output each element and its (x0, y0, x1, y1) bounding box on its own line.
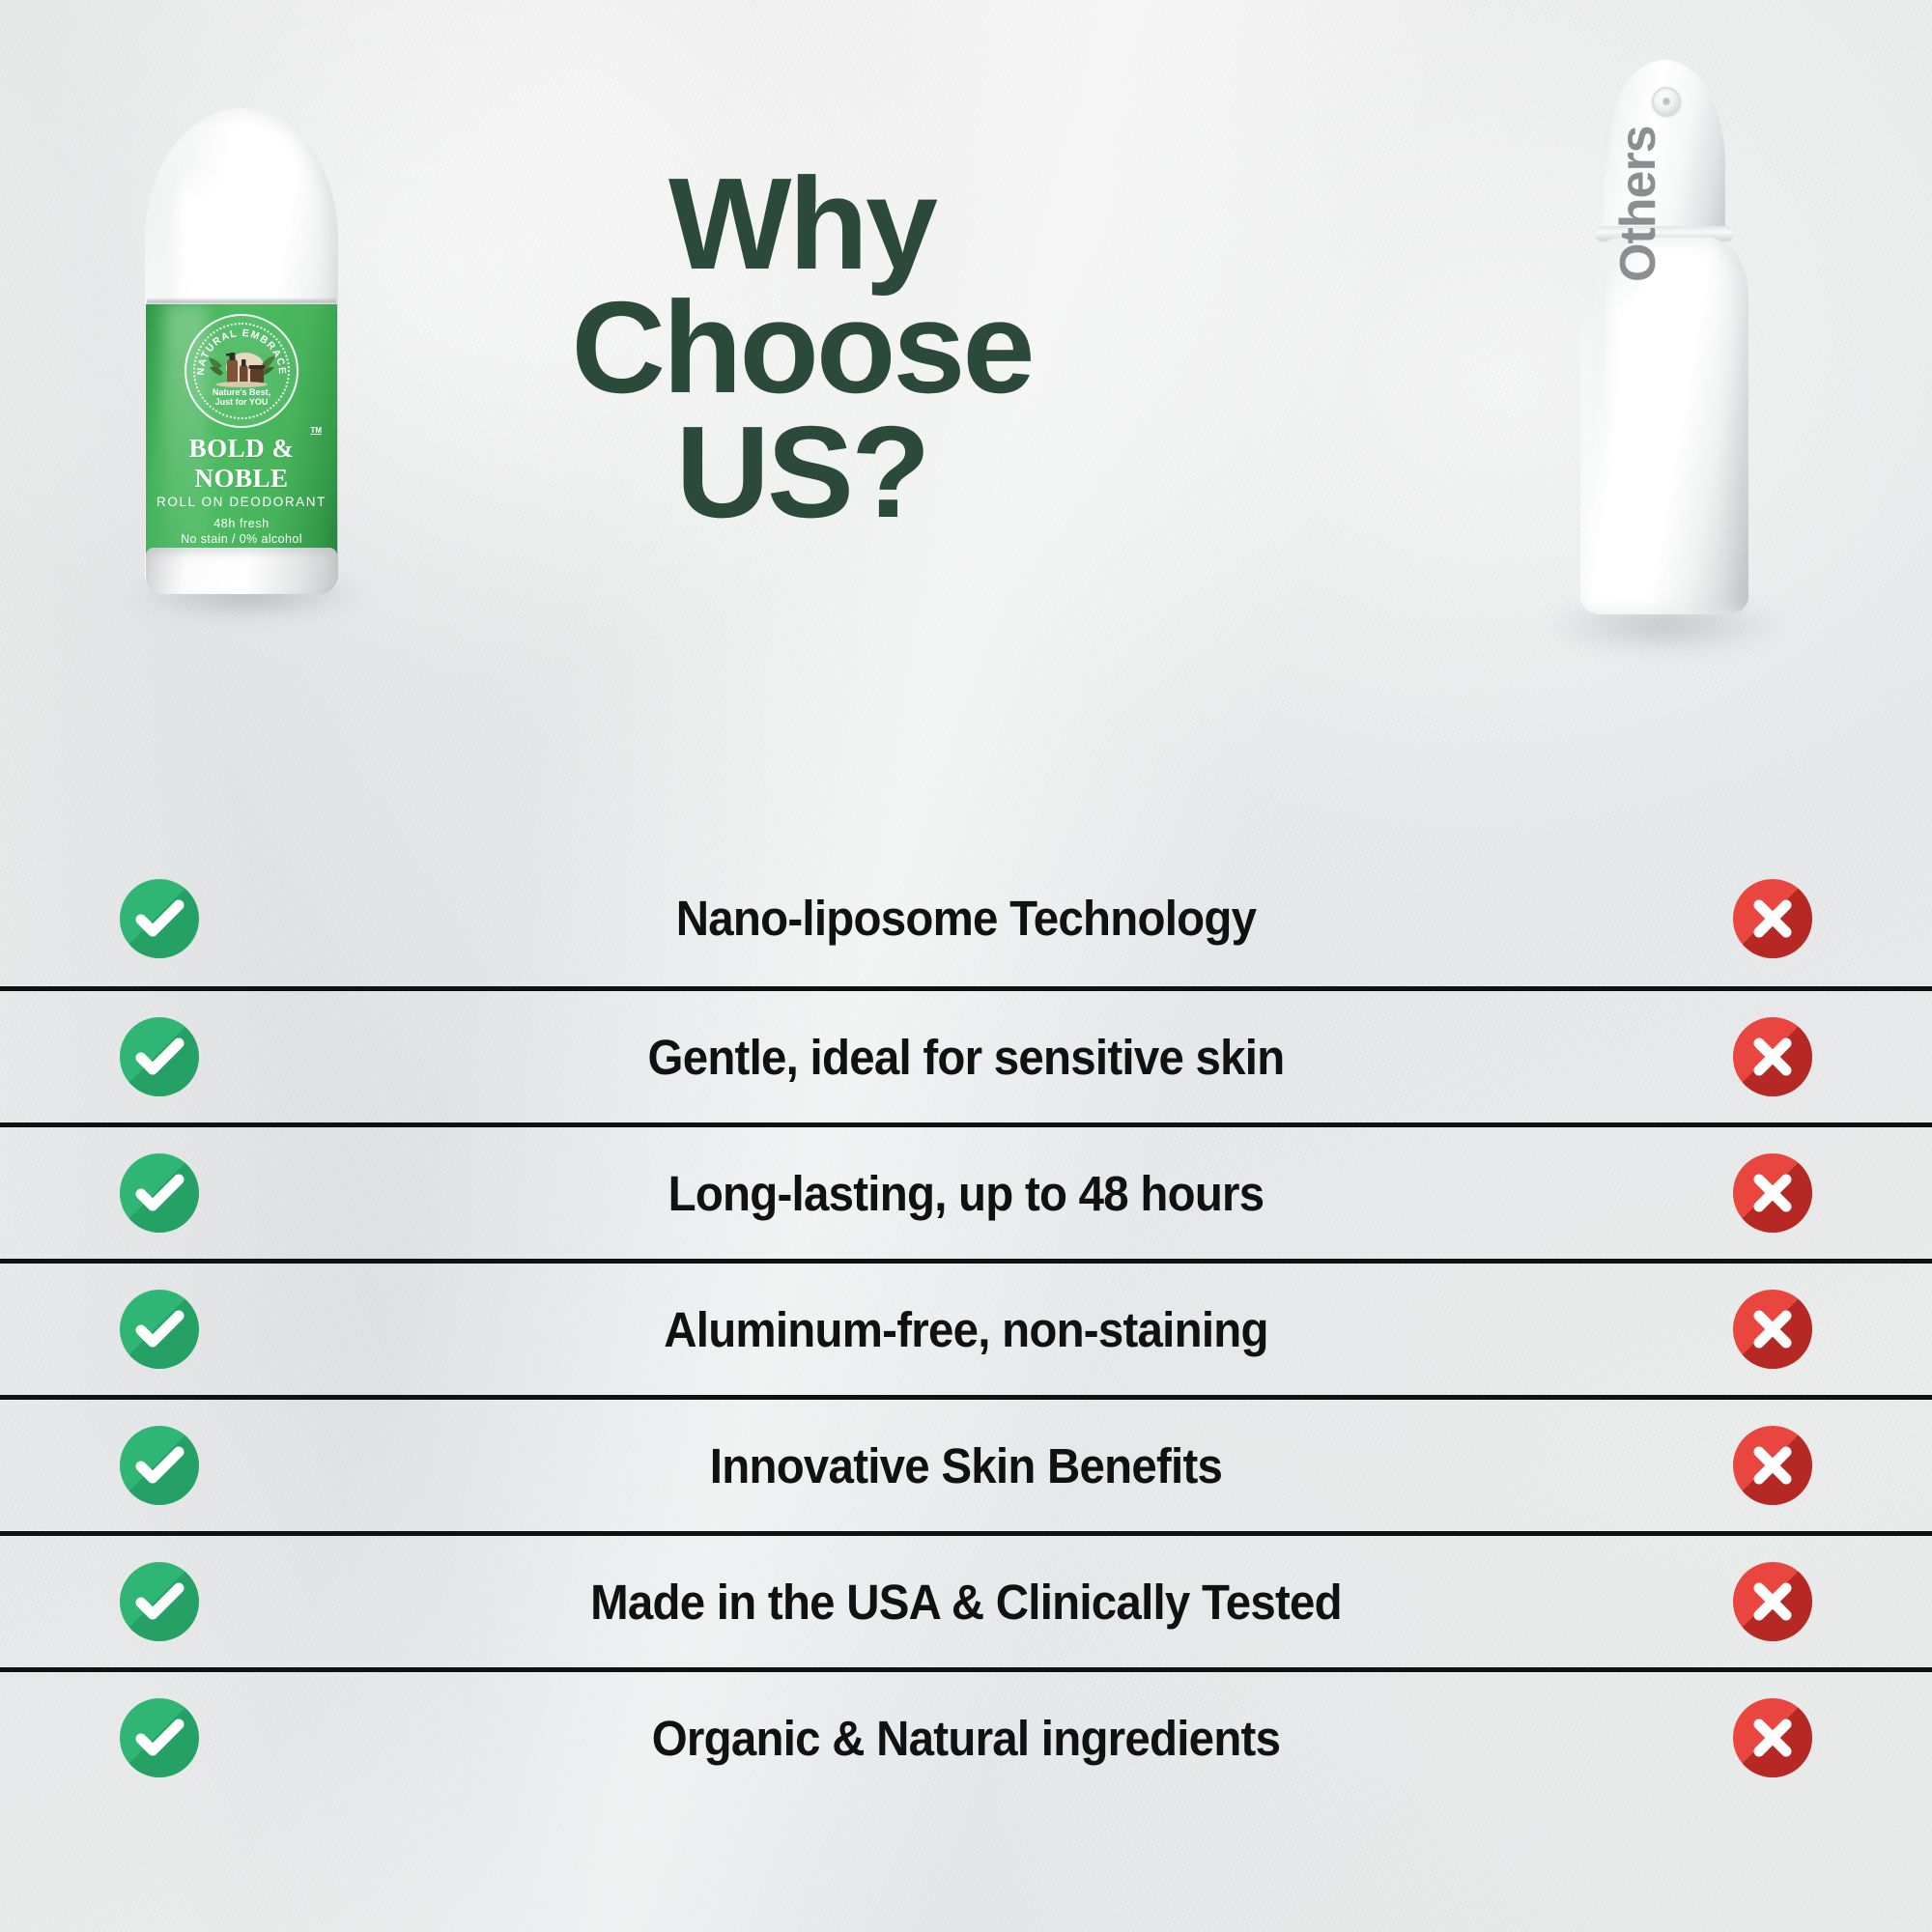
table-row: Innovative Skin Benefits (0, 1395, 1932, 1531)
theirs-cell (1613, 1153, 1932, 1233)
headline-line-1: Why (502, 162, 1101, 286)
theirs-cell (1613, 1290, 1932, 1369)
product-type: ROLL ON DEODORANT (146, 495, 337, 509)
label-claim-formula: No stain / 0% alcohol (146, 532, 337, 546)
cross-icon (1733, 879, 1812, 958)
headline-line-3: US? (502, 411, 1101, 534)
table-row: Nano-liposome Technology (0, 850, 1932, 986)
feature-label: Organic & Natural ingredients (364, 1710, 1568, 1767)
headline-line-2: Choose (502, 286, 1101, 410)
trademark-mark: TM (310, 426, 322, 435)
theirs-cell (1613, 1698, 1932, 1777)
brand-name: BOLD & NOBLE (146, 434, 337, 494)
brand-emblem: NATURAL EMBRACE (185, 314, 298, 428)
check-icon (120, 1153, 199, 1233)
product-label: NATURAL EMBRACE (146, 304, 337, 554)
emblem-tagline-line-2: Just for YOU (185, 397, 298, 407)
can-highlight (1611, 263, 1646, 553)
cross-icon (1733, 1698, 1812, 1777)
theirs-cell (1613, 879, 1932, 958)
ours-cell (0, 1698, 319, 1777)
can-body (1580, 238, 1748, 614)
check-icon (120, 1290, 199, 1369)
ours-cell (0, 1290, 319, 1369)
cross-icon (1733, 1017, 1812, 1096)
check-icon (120, 879, 199, 958)
ours-cell (0, 1153, 319, 1233)
bottle-base (146, 548, 337, 594)
feature-label: Made in the USA & Clinically Tested (364, 1574, 1568, 1631)
ours-cell (0, 1562, 319, 1641)
ours-cell (0, 1426, 319, 1505)
ours-cell (0, 879, 319, 958)
table-row: Made in the USA & Clinically Tested (0, 1531, 1932, 1667)
check-icon (120, 1698, 199, 1777)
cross-icon (1733, 1562, 1812, 1641)
feature-label: Long-lasting, up to 48 hours (364, 1165, 1568, 1222)
feature-label: Gentle, ideal for sensitive skin (364, 1029, 1568, 1086)
theirs-cell (1613, 1426, 1932, 1505)
cross-icon (1733, 1153, 1812, 1233)
check-icon (120, 1426, 199, 1505)
emblem-tagline: Nature's Best, Just for YOU (185, 387, 298, 407)
theirs-cell (1613, 1017, 1932, 1096)
theirs-cell (1613, 1562, 1932, 1641)
cross-icon (1733, 1290, 1812, 1369)
why-choose-us-graphic: Why Choose US? NATURAL EMBRACE (0, 0, 1932, 1932)
page-title: Why Choose US? (502, 162, 1101, 534)
ours-cell (0, 1017, 319, 1096)
table-row: Gentle, ideal for sensitive skin (0, 986, 1932, 1122)
table-row: Long-lasting, up to 48 hours (0, 1122, 1932, 1259)
table-row: Aluminum-free, non-staining (0, 1259, 1932, 1395)
feature-label: Nano-liposome Technology (364, 890, 1568, 947)
check-icon (120, 1562, 199, 1641)
cross-icon (1733, 1426, 1812, 1505)
competitor-spray-can: Others (1573, 60, 1756, 639)
competitor-label: Others (1609, 0, 1667, 282)
table-row: Organic & Natural ingredients (0, 1667, 1932, 1804)
emblem-illustration-icon (207, 347, 276, 387)
feature-label: Innovative Skin Benefits (364, 1437, 1568, 1494)
roll-on-deodorant-bottle: NATURAL EMBRACE (145, 108, 338, 611)
feature-label: Aluminum-free, non-staining (364, 1301, 1568, 1358)
emblem-tagline-line-1: Nature's Best, (185, 387, 298, 397)
label-claim-freshness: 48h fresh (146, 517, 337, 530)
comparison-table: Nano-liposome Technology Gentle, ideal f… (0, 850, 1932, 1804)
check-icon (120, 1017, 199, 1096)
